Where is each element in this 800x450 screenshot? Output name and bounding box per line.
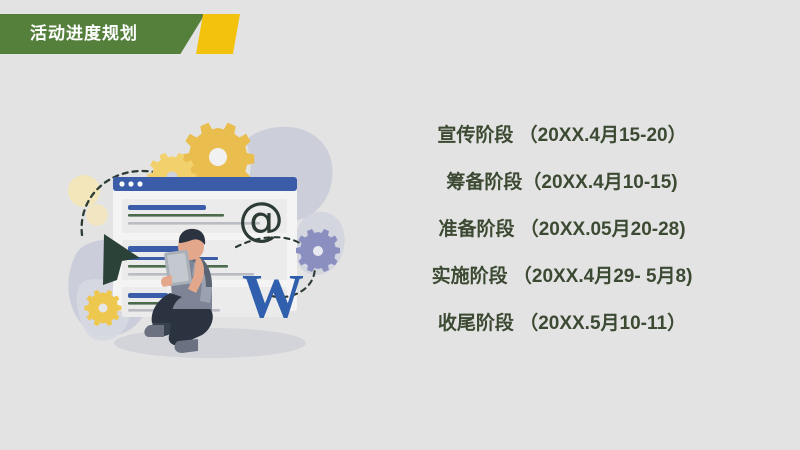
- page-title: 活动进度规划: [30, 14, 138, 54]
- title-banner: 活动进度规划: [0, 14, 240, 54]
- banner-yellow-shape: [196, 14, 240, 54]
- list-item: 准备阶段 （20XX.05月20-28): [438, 206, 685, 253]
- phase-list: 宣传阶段 （20XX.4月15-20） 筹备阶段（20XX.4月10-15) 准…: [352, 112, 772, 347]
- svg-text:W: W: [242, 263, 304, 331]
- list-item: 筹备阶段（20XX.4月10-15): [446, 159, 677, 206]
- slide-canvas: 活动进度规划: [0, 0, 800, 450]
- list-item: 实施阶段 （20XX.4月29- 5月8): [432, 253, 693, 300]
- illustration-person-with-tablet: @ W: [60, 95, 360, 385]
- list-item: 收尾阶段 （20XX.5月10-11）: [438, 300, 686, 347]
- letter-w-icon: W: [242, 263, 304, 331]
- list-item: 宣传阶段 （20XX.4月15-20）: [437, 112, 686, 159]
